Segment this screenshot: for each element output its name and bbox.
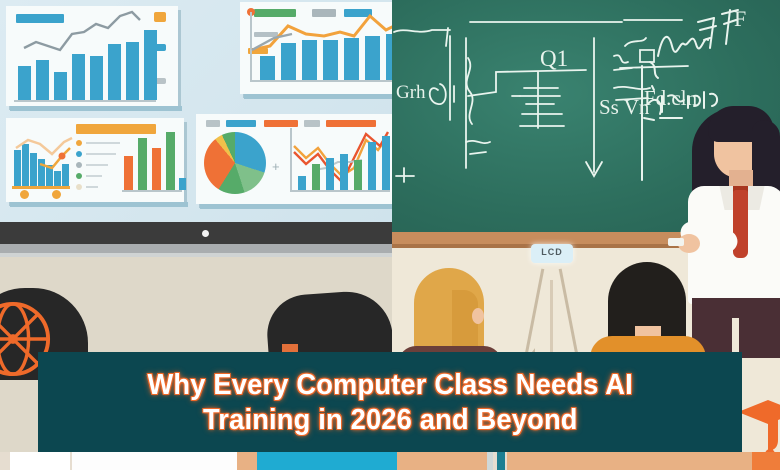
cart-base xyxy=(12,186,70,189)
strip-segment-tan-2 xyxy=(397,452,487,470)
legend-chip-gray xyxy=(206,120,220,127)
legend-line xyxy=(86,164,108,166)
card-shadow xyxy=(244,94,392,99)
monitor-bezel xyxy=(0,222,392,244)
bar xyxy=(152,148,161,190)
card-shadow xyxy=(10,202,188,207)
x-axis xyxy=(290,190,390,192)
strip-segment-gap xyxy=(487,452,493,470)
monitor-screen: + xyxy=(0,0,392,222)
bar xyxy=(382,136,390,190)
strip-segment-cyan xyxy=(257,452,397,470)
legend-chip-orange-2 xyxy=(326,120,376,127)
bar xyxy=(281,43,296,82)
monitor-base xyxy=(0,244,392,253)
plus-sign: + xyxy=(272,162,282,172)
bar xyxy=(344,38,359,82)
pie-chart xyxy=(204,132,266,194)
bar xyxy=(54,72,67,100)
strip-segment-teal xyxy=(497,452,505,470)
bar xyxy=(368,142,376,190)
bar xyxy=(108,44,121,100)
bottom-strip xyxy=(0,452,780,470)
legend-chip-orange xyxy=(264,120,298,127)
chart-card-bottom-left xyxy=(6,118,184,202)
strip-segment-tan xyxy=(237,452,257,470)
bar xyxy=(340,154,348,190)
cart-line-svg xyxy=(10,118,80,202)
bar xyxy=(365,36,380,82)
cart-wheel xyxy=(20,190,29,199)
bar xyxy=(166,132,175,190)
chalk-note-ssvn: Ss Vn xyxy=(599,95,649,120)
cart-wheel xyxy=(52,190,61,199)
legend-chip-gray-2 xyxy=(304,120,320,127)
legend-line xyxy=(86,186,98,188)
bar xyxy=(312,164,320,190)
bar xyxy=(138,138,147,190)
bar xyxy=(298,176,306,190)
strip-segment-tan-3 xyxy=(507,452,752,470)
bar xyxy=(18,66,31,100)
bar xyxy=(260,56,275,82)
student-blonde-ear xyxy=(472,308,484,324)
poster-image: + xyxy=(0,0,780,470)
strip-segment-white-2 xyxy=(72,452,237,470)
strip-segment-orange xyxy=(752,452,780,470)
bar xyxy=(144,30,157,100)
chalk-note-q1: Q1 xyxy=(540,46,568,72)
chalk-note-left: Grh xyxy=(396,82,426,104)
bar xyxy=(124,156,133,190)
graduation-cap-icon xyxy=(738,396,780,460)
lcd-sign-label: LCD xyxy=(531,247,573,257)
card-shadow xyxy=(10,106,182,111)
bar xyxy=(326,158,334,190)
bar xyxy=(354,160,362,190)
legend-line xyxy=(86,175,102,177)
webcam-dot xyxy=(202,230,209,237)
chalk-note-fn: Fd.cln xyxy=(644,86,697,111)
chalk-note-f: F xyxy=(734,6,746,32)
banner-title-block: Why Every Computer Class Needs AI Traini… xyxy=(38,352,742,452)
x-axis xyxy=(14,100,156,102)
bar xyxy=(302,40,317,82)
bar xyxy=(126,42,139,100)
bar xyxy=(36,60,49,100)
title-banner: Why Every Computer Class Needs AI Traini… xyxy=(38,352,742,452)
card-shadow xyxy=(200,204,392,209)
banner-line-1: Why Every Computer Class Needs AI xyxy=(147,368,632,402)
x-axis xyxy=(250,80,392,82)
legend-chip-blue xyxy=(226,120,256,127)
chalk-stick xyxy=(668,238,684,246)
chart-card-top-left xyxy=(6,6,178,106)
chart-card-top-right xyxy=(240,2,392,94)
bar xyxy=(179,178,186,190)
chart-card-bottom-right: + xyxy=(196,114,392,204)
bar xyxy=(90,56,103,100)
strip-segment-white xyxy=(10,452,70,470)
bar xyxy=(72,54,85,100)
x-axis xyxy=(122,190,182,192)
banner-line-2: Training in 2026 and Beyond xyxy=(203,403,578,437)
bar xyxy=(323,40,338,82)
legend-line xyxy=(86,142,120,144)
legend-line xyxy=(86,153,116,155)
